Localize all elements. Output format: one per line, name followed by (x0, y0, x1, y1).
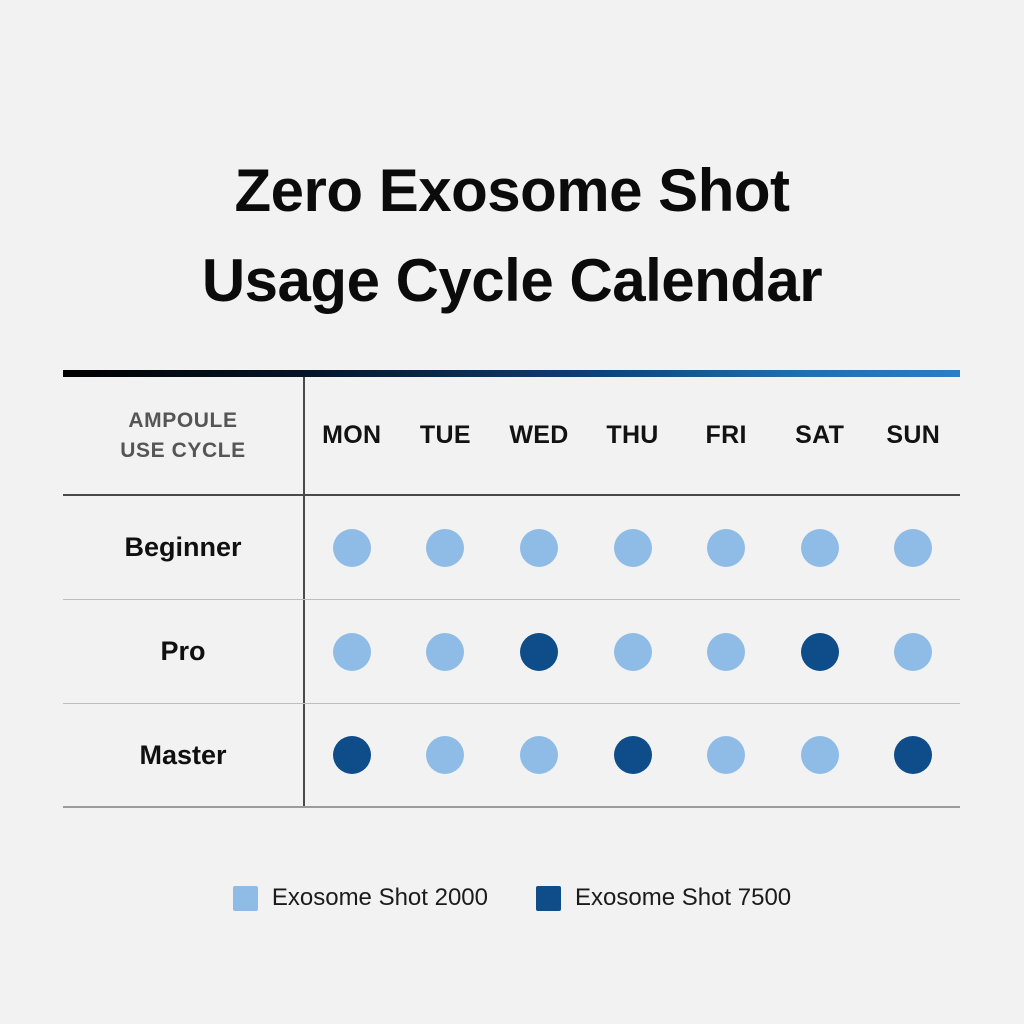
row-dots (305, 496, 960, 599)
legend-item: Exosome Shot 7500 (536, 884, 791, 912)
row-label-cell-pro: Pro (63, 600, 305, 703)
legend-swatch-icon (233, 886, 258, 911)
cell-master-mon (305, 736, 399, 774)
usage-dot-dark (333, 736, 371, 774)
page-title: Zero Exosome Shot Usage Cycle Calendar (0, 146, 1024, 326)
row-label: Master (139, 740, 226, 771)
day-headers: MONTUEWEDTHUFRISATSUN (305, 377, 960, 494)
usage-dot-light (614, 633, 652, 671)
usage-dot-light (801, 736, 839, 774)
day-header-tue: TUE (399, 421, 493, 450)
cell-beginner-sun (866, 529, 960, 567)
legend-item: Exosome Shot 2000 (233, 884, 488, 912)
corner-label-line-1: AMPOULE (120, 406, 246, 436)
row-label: Pro (160, 636, 205, 667)
cell-pro-wed (492, 633, 586, 671)
ampoule-use-cycle-label: AMPOULE USE CYCLE (120, 406, 246, 466)
usage-dot-light (894, 529, 932, 567)
cell-master-tue (399, 736, 493, 774)
cell-beginner-fri (679, 529, 773, 567)
title-line-2: Usage Cycle Calendar (0, 236, 1024, 326)
cell-pro-mon (305, 633, 399, 671)
cell-pro-tue (399, 633, 493, 671)
usage-dot-dark (801, 633, 839, 671)
usage-dot-light (707, 633, 745, 671)
legend-label: Exosome Shot 7500 (575, 884, 791, 912)
cell-pro-sun (866, 633, 960, 671)
usage-dot-light (520, 529, 558, 567)
cell-beginner-thu (586, 529, 680, 567)
day-header-sat: SAT (773, 421, 867, 450)
cell-beginner-sat (773, 529, 867, 567)
cell-beginner-mon (305, 529, 399, 567)
usage-dot-dark (520, 633, 558, 671)
legend: Exosome Shot 2000Exosome Shot 7500 (0, 884, 1024, 912)
usage-dot-light (426, 529, 464, 567)
usage-dot-light (333, 633, 371, 671)
cell-beginner-wed (492, 529, 586, 567)
usage-dot-light (707, 736, 745, 774)
row-dots (305, 600, 960, 703)
table-body: BeginnerProMaster (63, 496, 960, 808)
cell-beginner-tue (399, 529, 493, 567)
cell-pro-thu (586, 633, 680, 671)
cell-master-fri (679, 736, 773, 774)
day-header-thu: THU (586, 421, 680, 450)
legend-label: Exosome Shot 2000 (272, 884, 488, 912)
legend-swatch-icon (536, 886, 561, 911)
title-line-1: Zero Exosome Shot (0, 146, 1024, 236)
day-header-mon: MON (305, 421, 399, 450)
usage-dot-light (520, 736, 558, 774)
table-corner-label-cell: AMPOULE USE CYCLE (63, 377, 305, 494)
cell-master-sat (773, 736, 867, 774)
usage-dot-light (614, 529, 652, 567)
table-header-row: AMPOULE USE CYCLE MONTUEWEDTHUFRISATSUN (63, 377, 960, 496)
cell-pro-fri (679, 633, 773, 671)
table-row: Master (63, 704, 960, 808)
day-header-fri: FRI (679, 421, 773, 450)
usage-dot-light (333, 529, 371, 567)
usage-dot-light (894, 633, 932, 671)
cell-master-sun (866, 736, 960, 774)
row-label-cell-master: Master (63, 704, 305, 806)
cell-master-wed (492, 736, 586, 774)
cell-pro-sat (773, 633, 867, 671)
usage-dot-light (426, 736, 464, 774)
row-label-cell-beginner: Beginner (63, 496, 305, 599)
row-dots (305, 704, 960, 806)
calendar-infographic: Zero Exosome Shot Usage Cycle Calendar A… (0, 0, 1024, 1024)
day-header-wed: WED (492, 421, 586, 450)
cell-master-thu (586, 736, 680, 774)
usage-dot-light (707, 529, 745, 567)
corner-label-line-2: USE CYCLE (120, 436, 246, 466)
usage-dot-light (801, 529, 839, 567)
table-row: Beginner (63, 496, 960, 600)
usage-dot-dark (614, 736, 652, 774)
day-header-sun: SUN (866, 421, 960, 450)
table-top-accent-bar (63, 370, 960, 377)
usage-dot-dark (894, 736, 932, 774)
row-label: Beginner (124, 532, 241, 563)
table-row: Pro (63, 600, 960, 704)
usage-cycle-table: AMPOULE USE CYCLE MONTUEWEDTHUFRISATSUN … (63, 370, 960, 808)
usage-dot-light (426, 633, 464, 671)
